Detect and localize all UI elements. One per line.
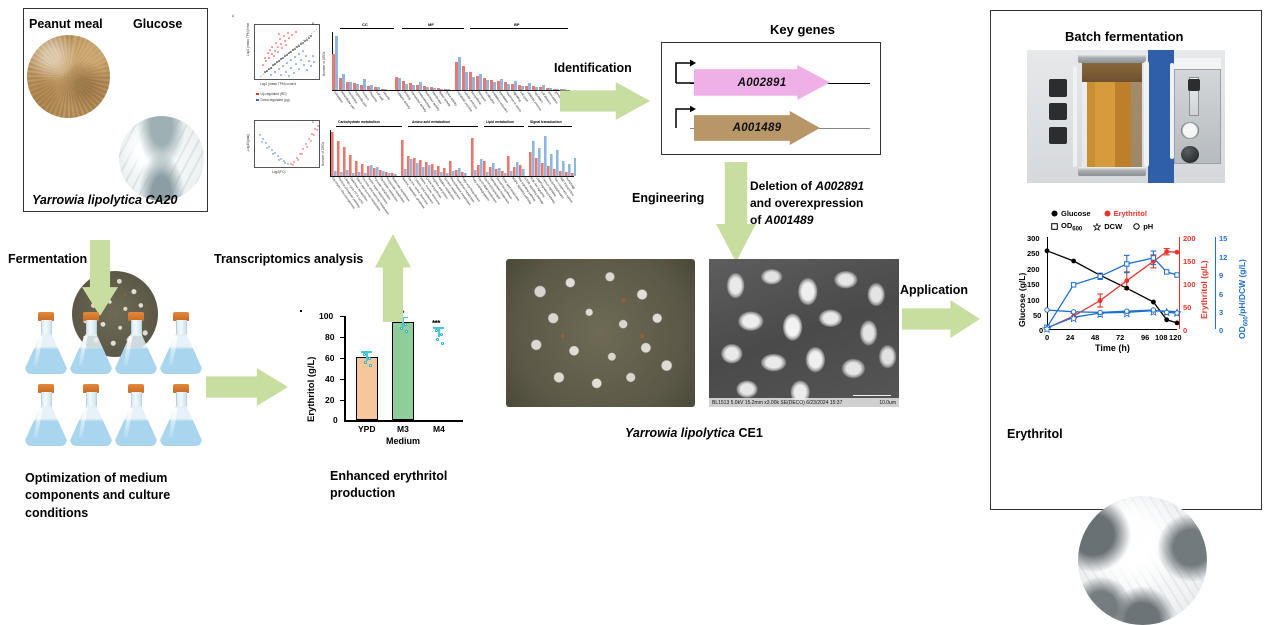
flask-2 [69, 312, 113, 374]
volcano-axes [254, 120, 320, 168]
series-markers-erythritol [1045, 249, 1180, 330]
bar-ytick-60: 60 [325, 353, 334, 363]
scatter-xlabel: Log2 (mean TPM) control [260, 82, 296, 86]
kinetics-series-overlay [1003, 209, 1253, 359]
go-b-bars [332, 32, 572, 90]
replicate-dot [436, 338, 439, 341]
bar-ytick-100: 100 [319, 311, 333, 321]
flask-5 [24, 384, 68, 446]
bioreactor-foam-layer [1082, 61, 1141, 82]
bar-xtick-m4: M4 [433, 424, 445, 434]
kegg-group-label-1: Carbohydrate metabolism [338, 120, 380, 124]
ytick-mark [340, 400, 344, 401]
replicate-dot [405, 330, 408, 333]
kegg-group-bracket-4 [528, 126, 572, 129]
flask-body [160, 406, 202, 446]
application-arrow-icon [902, 300, 980, 338]
edit-note-gene-2: A001489 [765, 213, 814, 227]
bar-ytick-20: 20 [325, 395, 334, 405]
transcriptomics-figure: A [228, 8, 578, 226]
panel-a-tag: A [232, 14, 234, 18]
flask-array [24, 312, 194, 452]
flask-neck [176, 392, 187, 408]
flask-neck [131, 392, 142, 408]
bioreactor-mount-1 [1049, 79, 1067, 96]
application-label: Application [900, 282, 968, 298]
flask-body [115, 406, 157, 446]
bar-ypd [356, 357, 378, 420]
ytick-mark [340, 337, 344, 338]
bar-chart-yaxis [344, 316, 346, 420]
flask-6 [69, 384, 113, 446]
replicate-dot [369, 364, 372, 367]
series-line-erythritol [1047, 252, 1177, 328]
bioreactor-bottom-flange [1078, 167, 1145, 176]
go-group-bracket-cc [340, 28, 394, 31]
kegg-group-label-2: Amino acid metabolism [412, 120, 450, 124]
batch-kinetics-chart: Glucose Erythritol OD600 DCW pH 300 250 … [1003, 209, 1253, 359]
panel-c-tag: C [312, 120, 314, 124]
flask-body [70, 334, 112, 374]
bioreactor-tube-2 [1144, 61, 1149, 167]
legend-swatch-up [256, 93, 259, 96]
engineering-label: Engineering [632, 190, 704, 206]
raw-materials-panel: Peanut meal Glucose Yarrowia lipolytica … [23, 8, 208, 212]
flask-body [70, 406, 112, 446]
bar-chart-ylabel: Erythritol (g/L) [306, 357, 317, 422]
go-group-label-cc: CC [362, 22, 368, 27]
bioreactor-tube-3 [1170, 63, 1174, 159]
key-genes-title: Key genes [770, 22, 835, 39]
flask-4 [159, 312, 203, 374]
legend-swatch-down [256, 99, 259, 102]
go-group-bracket-mf [402, 28, 464, 31]
bar-xtick-ypd: YPD [358, 424, 375, 434]
replicate-dot [363, 353, 366, 356]
series-markers-glucose [1045, 248, 1180, 325]
ce1-colony-photo [506, 259, 695, 407]
ytick-mark [340, 358, 344, 359]
go-b-ylabel: Number of DEGs [322, 52, 326, 76]
go-bar-panel-b: B Number of DEGs CC MF BP [312, 22, 574, 112]
bar-m4 [300, 310, 302, 312]
bar-xtick-m3: M3 [397, 424, 409, 434]
enhanced-production-caption: Enhanced erythritol production [330, 468, 480, 503]
bioreactor-mount-2 [1049, 103, 1067, 120]
flask-1 [24, 312, 68, 374]
flask-8 [159, 384, 203, 446]
peanut-meal-label: Peanut meal [29, 16, 103, 32]
gene-arrow-a001489: A001489 [694, 111, 820, 145]
ce1-sem-photo: BL1513 5.0kV 15.2mm x3.00k SE(DECO) 6/23… [709, 259, 899, 407]
kegg-ylabel: Number of DEGs [321, 142, 325, 166]
flask-neck [41, 392, 52, 408]
scatter-legend: Up-regulated (RD) Down-regulated (pg) [256, 92, 290, 102]
optimization-to-barchart-arrow-icon [206, 368, 288, 406]
replicate-dot [440, 333, 443, 336]
go-group-bracket-bp [470, 28, 568, 31]
transcriptomics-arrow-icon [375, 234, 411, 322]
transcriptomics-label: Transcriptomics analysis [214, 251, 363, 267]
ce1-caption-plain: CE1 [735, 426, 763, 440]
scatter-panel-a: A [232, 14, 322, 104]
gene-label-a002891: A002891 [738, 77, 787, 89]
sem-metadata-left: BL1513 5.0kV 15.2mm x3.00k SE(DECO) 6/23… [712, 400, 842, 406]
flask-3 [114, 312, 158, 374]
replicate-dot [368, 357, 371, 360]
kegg-group-bracket-3 [484, 126, 524, 129]
sem-metadata-bar: BL1513 5.0kV 15.2mm x3.00k SE(DECO) 6/23… [709, 398, 899, 407]
replicate-dot [435, 329, 438, 332]
ytick-mark [340, 316, 344, 317]
flask-neck [176, 320, 187, 336]
bar-chart-xlabel: Medium [386, 436, 420, 446]
bar-ytick-80: 80 [325, 332, 334, 342]
peanut-meal-photo [27, 35, 110, 118]
edit-note-line3-pre: of [750, 213, 765, 227]
kegg-group-bracket-2 [408, 126, 478, 129]
ce1-strain-caption: Yarrowia lipolytica CE1 [625, 425, 763, 441]
volcano-panel: -Log10(padj) Log2(FC) [232, 112, 322, 184]
flask-neck [86, 392, 97, 408]
volcano-xlabel: Log2(FC) [272, 170, 285, 174]
kegg-tick-labels: Glycolysis / Gluconeogenesis Pentose pho… [322, 176, 580, 226]
sem-scalebar-label: 10.0um [879, 400, 896, 406]
series-line-od600 [1047, 258, 1177, 327]
legend-label-up: Up-regulated (RD) [261, 92, 287, 96]
key-genes-box: A002891 A001489 [661, 42, 881, 155]
bioreactor-mount-3 [1049, 127, 1067, 144]
replicate-dot [400, 327, 403, 330]
gene-label-a001489: A001489 [733, 122, 782, 134]
optimization-caption: Optimization of medium components and cu… [25, 470, 200, 522]
batch-fermentation-title: Batch fermentation [1065, 29, 1183, 46]
series-markers-od600 [1045, 256, 1179, 330]
flask-body [25, 406, 67, 446]
scatter-ylabel: Log2 (mean TPM) treat [246, 23, 250, 56]
edit-note-line2: and overexpression [750, 196, 863, 210]
glucose-photo [119, 116, 204, 201]
erythritol-product-label: Erythritol [1007, 426, 1063, 442]
erythritol-bar-chart: Erythritol (g/L) 100 80 60 40 20 0 *** *… [300, 310, 470, 442]
edit-note-gene-1: A002891 [815, 179, 864, 193]
flask-body [115, 334, 157, 374]
ce1-caption-italic: Yarrowia lipolytica [625, 426, 735, 440]
flask-body [160, 334, 202, 374]
glucose-label: Glucose [133, 16, 182, 32]
bar-chart-xaxis [344, 420, 463, 422]
flask-7 [114, 384, 158, 446]
kegg-bar-panel-c: C Number of DEGs Carbohydrate metabolism… [312, 120, 578, 226]
legend-label-down: Down-regulated (pg) [261, 98, 290, 102]
erythritol-product-photo [1078, 496, 1207, 625]
fermentation-label: Fermentation [8, 251, 87, 267]
ca20-strain-caption: Yarrowia lipolytica CA20 [32, 192, 177, 208]
bioreactor-top-flange [1078, 54, 1145, 63]
go-group-label-mf: MF [428, 22, 434, 27]
flask-neck [41, 320, 52, 336]
edit-note-line1-pre: Deletion of [750, 179, 815, 193]
scatter-axes [254, 24, 320, 80]
bar-m3 [392, 322, 414, 420]
flask-neck [131, 320, 142, 336]
kegg-bars [330, 130, 576, 176]
go-group-label-bp: BP [514, 22, 520, 27]
volcano-ylabel: -Log10(padj) [246, 134, 250, 152]
identification-label: Identification [554, 60, 632, 76]
gene-arrow-a002891: A002891 [694, 65, 830, 100]
replicate-dot [364, 361, 367, 364]
flask-neck [86, 320, 97, 336]
gene-edit-note: Deletion of A002891 and overexpression o… [750, 178, 888, 229]
kegg-group-bracket-1 [336, 126, 402, 129]
application-panel: Batch fermentation Glucose Erythritol [990, 10, 1262, 510]
bar-ytick-0: 0 [333, 415, 338, 425]
flask-body [25, 334, 67, 374]
bioreactor-rotameter-float [1188, 79, 1200, 91]
bioreactor-tube-1 [1073, 66, 1078, 167]
bar-ytick-40: 40 [325, 374, 334, 384]
kegg-group-label-3: Lipid metabolism [486, 120, 514, 124]
significance-m4: *** [432, 319, 440, 328]
panel-b-tag: B [312, 22, 314, 26]
sem-scalebar-line [853, 395, 891, 397]
svg-text:vacuole: vacuole [382, 90, 391, 101]
kegg-group-label-4: Signal transduction [530, 120, 562, 124]
replicate-dot [441, 342, 444, 345]
ytick-mark [340, 379, 344, 380]
bioreactor-photo [1027, 50, 1225, 183]
replicate-dot [404, 323, 407, 326]
